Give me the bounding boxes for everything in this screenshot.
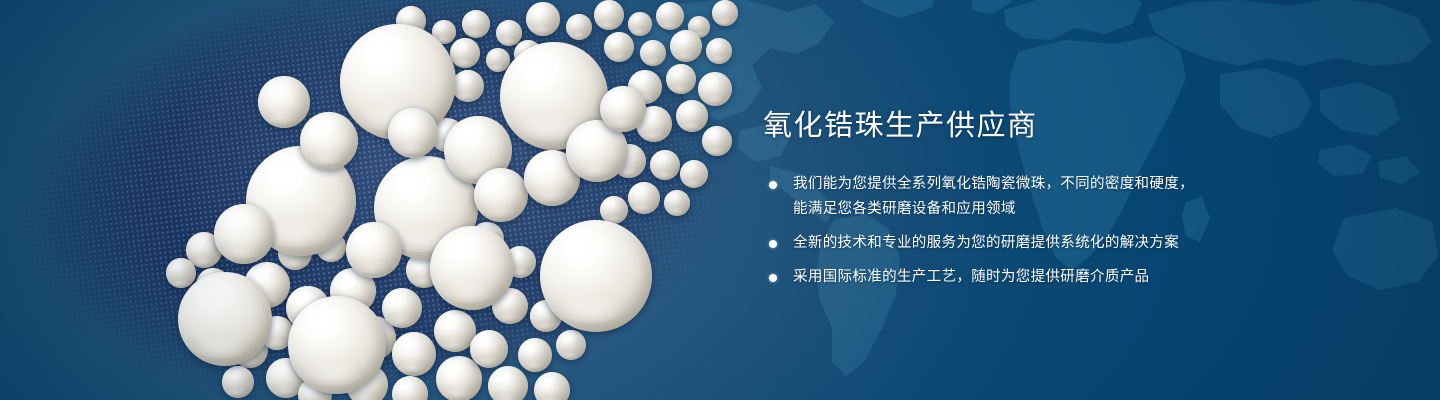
banner-headline: 氧化锆珠生产供应商	[763, 106, 1323, 146]
feature-bullet-3: 采用国际标准的生产工艺，随时为您提供研磨介质产品	[763, 265, 1323, 290]
bullet-dot-icon	[769, 240, 777, 248]
hero-banner: 氧化锆珠生产供应商 我们能为您提供全系列氧化锆陶瓷微珠，不同的密度和硬度， 能满…	[0, 0, 1440, 400]
bullet-1-line-1: 我们能为您提供全系列氧化锆陶瓷微珠，不同的密度和硬度，	[793, 172, 1323, 197]
bullet-2-line-1: 全新的技术和专业的服务为您的研磨提供系统化的解决方案	[793, 231, 1323, 256]
bullet-dot-icon	[769, 181, 777, 189]
bullet-1-line-2: 能满足您各类研磨设备和应用领域	[793, 197, 1323, 222]
feature-bullet-2: 全新的技术和专业的服务为您的研磨提供系统化的解决方案	[763, 231, 1323, 256]
bullet-dot-icon	[769, 274, 777, 282]
feature-bullet-1: 我们能为您提供全系列氧化锆陶瓷微珠，不同的密度和硬度， 能满足您各类研磨设备和应…	[763, 172, 1323, 222]
banner-content: 氧化锆珠生产供应商 我们能为您提供全系列氧化锆陶瓷微珠，不同的密度和硬度， 能满…	[763, 106, 1323, 290]
bullet-3-line-1: 采用国际标准的生产工艺，随时为您提供研磨介质产品	[793, 265, 1323, 290]
feature-bullet-list: 我们能为您提供全系列氧化锆陶瓷微珠，不同的密度和硬度， 能满足您各类研磨设备和应…	[763, 172, 1323, 290]
